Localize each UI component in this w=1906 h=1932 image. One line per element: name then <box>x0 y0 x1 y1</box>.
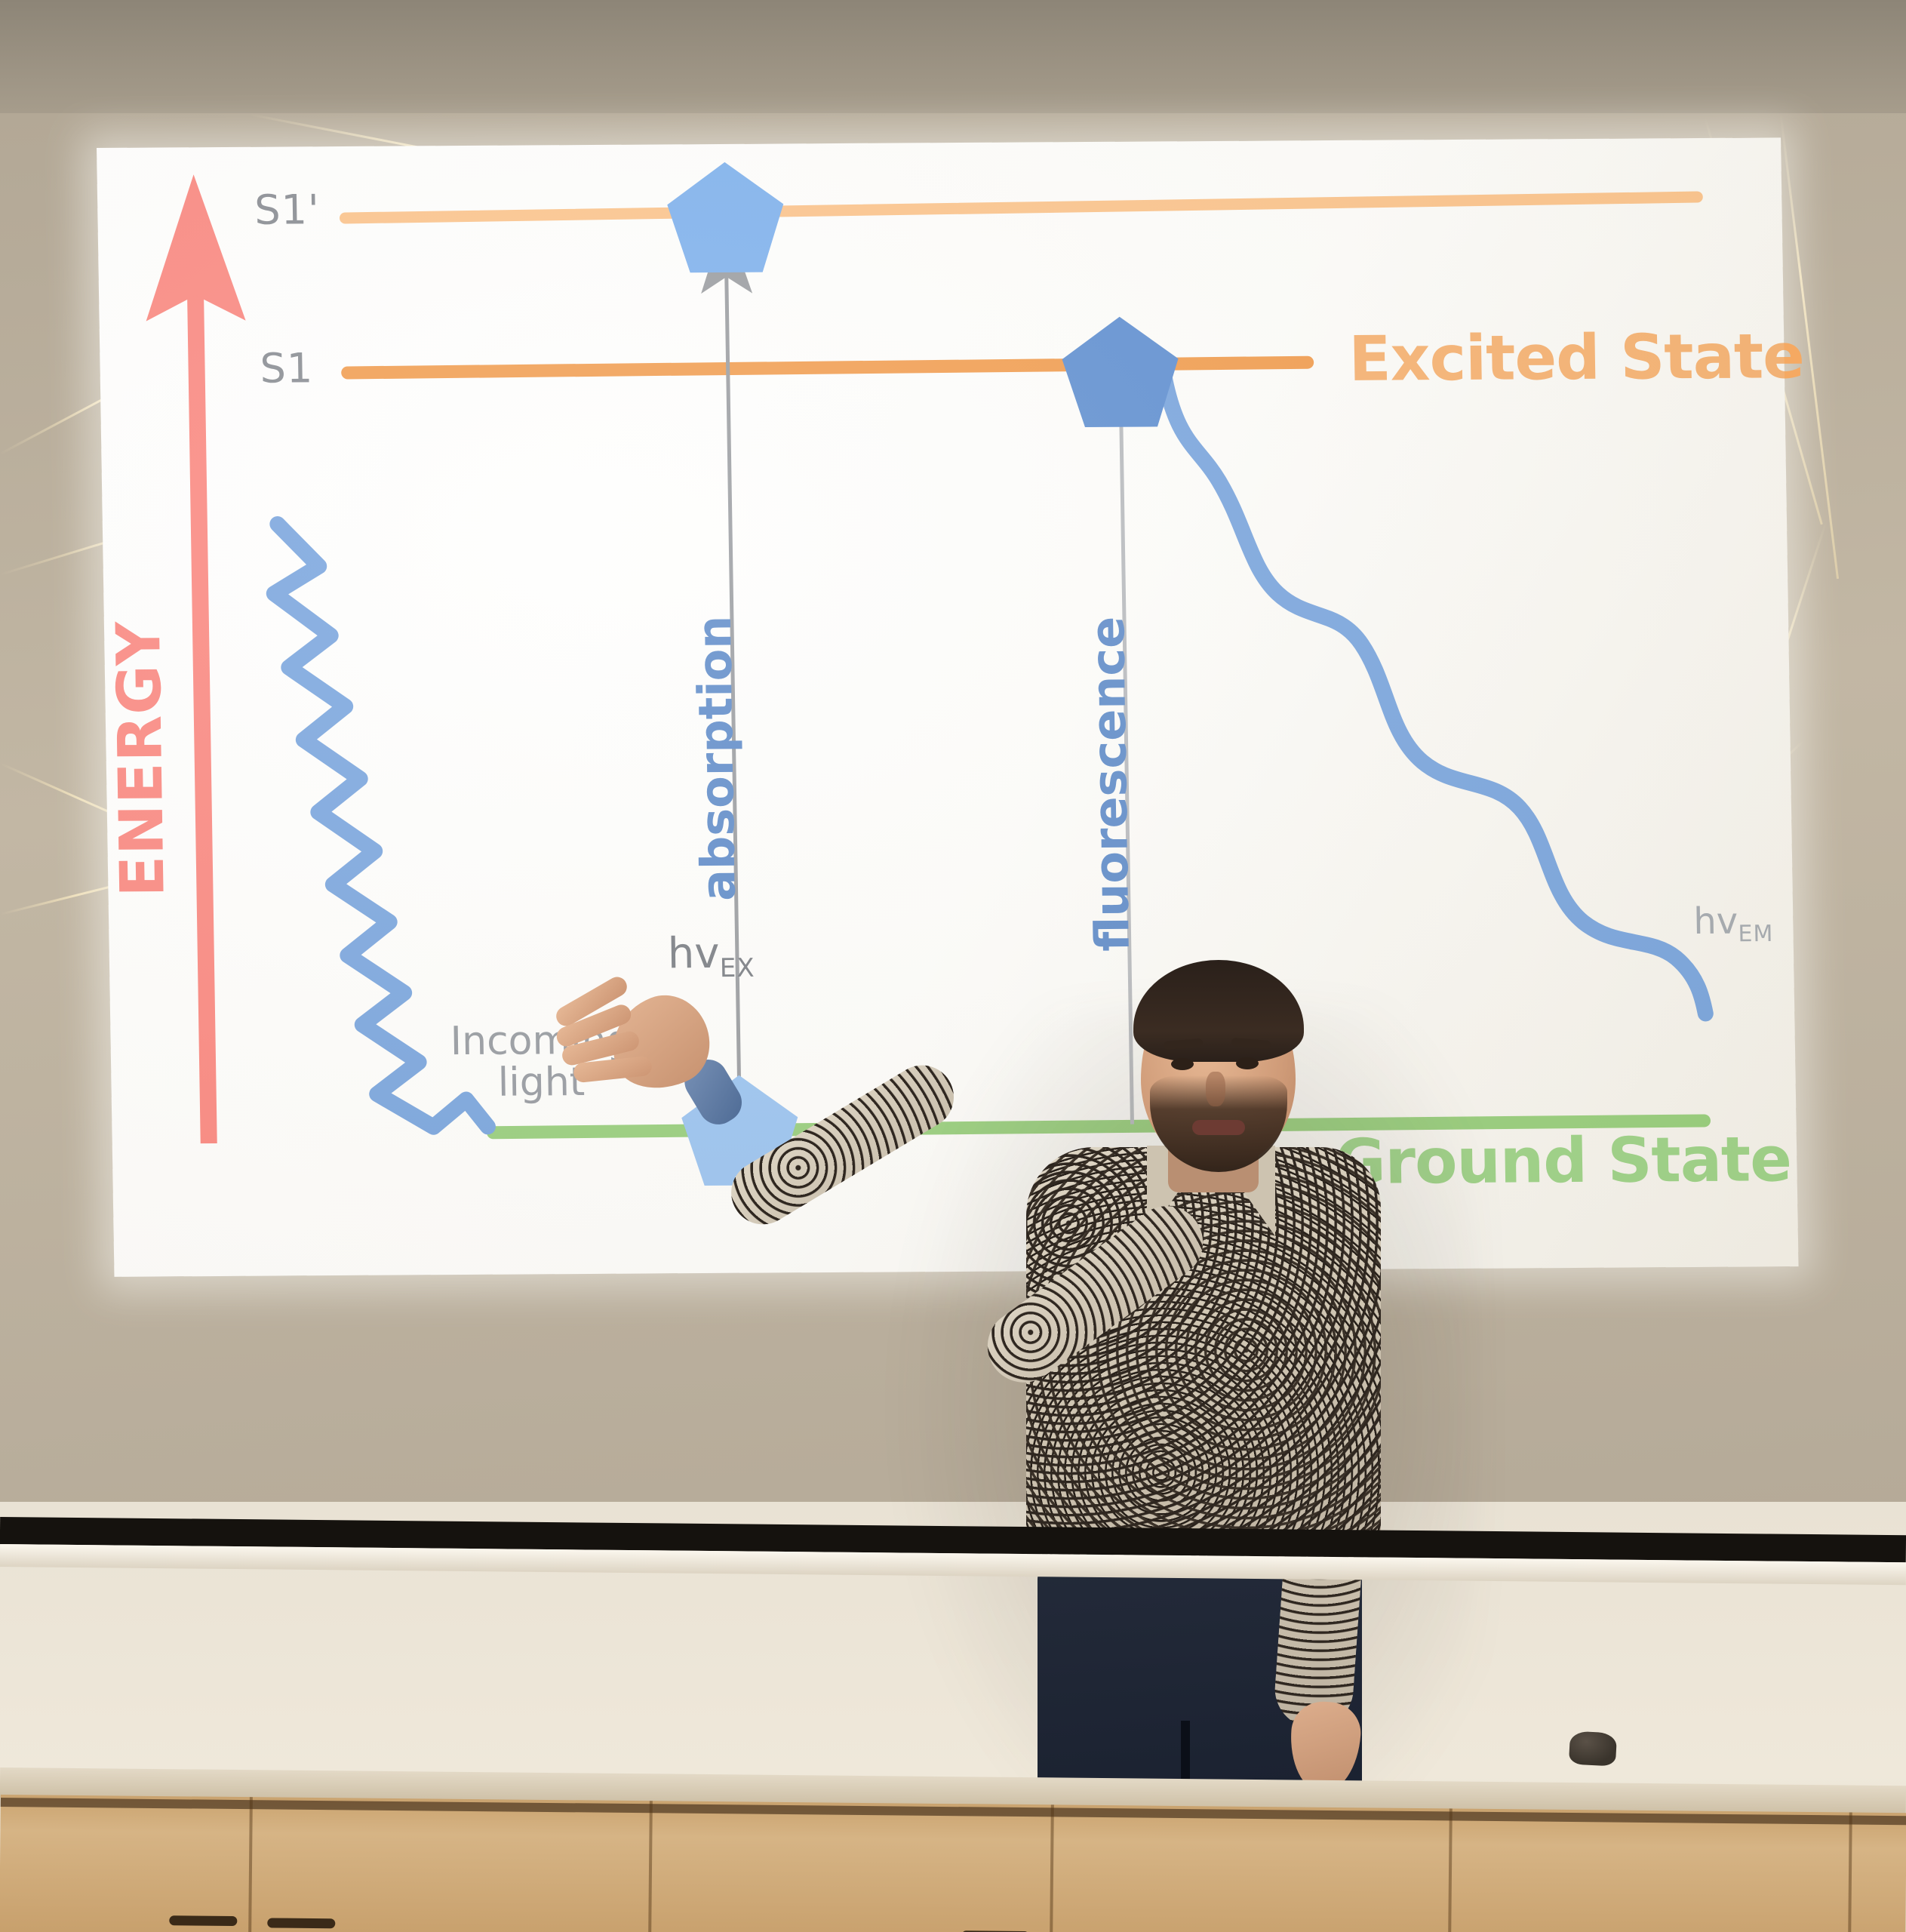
cabinet-divider <box>1448 1808 1453 1932</box>
presenter-mouth <box>1192 1120 1245 1135</box>
photon-label-emission: hvEM <box>1693 900 1774 947</box>
level-line-s1-prime <box>345 197 1697 218</box>
photon-label-excitation: hvEX <box>667 929 755 984</box>
presenter-nose <box>1206 1072 1225 1106</box>
marker-s1 <box>1062 316 1179 427</box>
presenter-eye-right <box>1236 1057 1259 1069</box>
wall-upper <box>0 0 1906 121</box>
state-label-excited: Excited State <box>1348 321 1805 395</box>
classroom-scene: S1' S1 Excited State Ground State ENERGY… <box>0 0 1906 1932</box>
cabinet-divider <box>1848 1813 1852 1932</box>
whiteboard-eraser[interactable] <box>1569 1730 1617 1766</box>
cabinet-row <box>0 1795 1906 1932</box>
presenter-eye-left <box>1171 1058 1194 1070</box>
axis-label-energy: ENERGY <box>103 621 178 897</box>
level-label-s1: S1 <box>260 344 314 392</box>
cabinet-handle[interactable] <box>267 1918 335 1928</box>
photon-symbol-em: hv <box>1693 900 1738 943</box>
transition-label-fluorescence: fluorescence <box>1080 617 1140 952</box>
cabinet-handle[interactable] <box>169 1915 237 1926</box>
photon-subscript-ex: EX <box>720 953 755 983</box>
photon-subscript-em: EM <box>1738 921 1773 947</box>
photon-symbol-ex: hv <box>667 929 720 978</box>
transition-label-absorption: absorption <box>687 615 746 901</box>
emitted-light-wave <box>1163 365 1706 1017</box>
presenter-hair <box>1133 960 1304 1062</box>
cabinet-divider <box>248 1797 253 1932</box>
cabinet-divider <box>1050 1804 1054 1932</box>
cabinet-divider <box>648 1801 653 1932</box>
level-label-s1-prime: S1' <box>254 186 320 234</box>
marker-s1-prime <box>666 162 784 272</box>
